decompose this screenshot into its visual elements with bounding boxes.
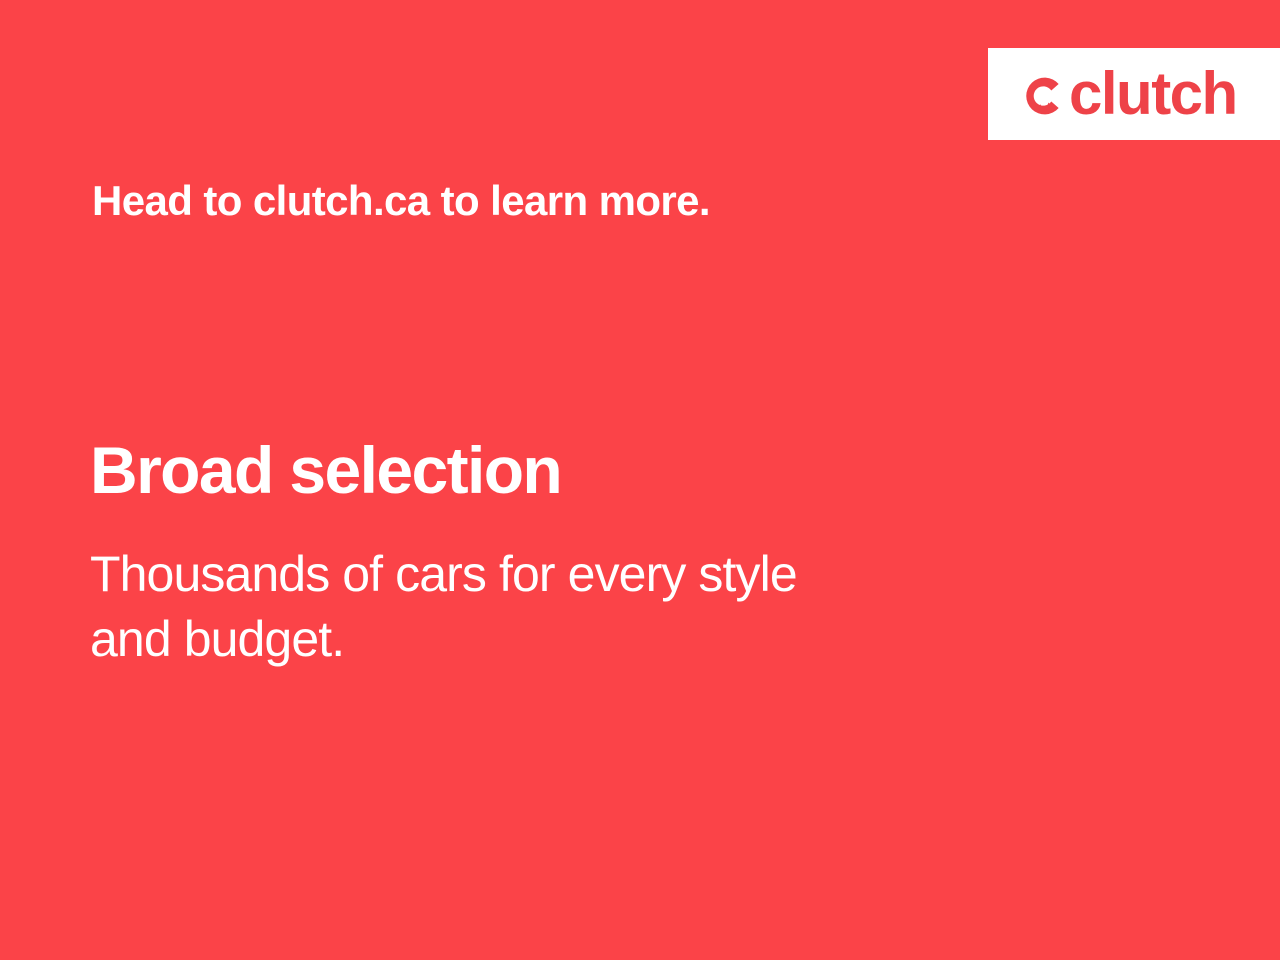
clutch-c-mark-icon	[1020, 73, 1066, 119]
headline-text: Broad selection	[90, 436, 561, 505]
subhead-text: Thousands of cars for every style and bu…	[90, 542, 1040, 672]
brand-logo-lockup: clutch	[1020, 64, 1237, 124]
brand-wordmark: clutch	[1069, 64, 1237, 124]
subhead-line: and budget.	[90, 607, 1040, 672]
subhead-line: Thousands of cars for every style	[90, 542, 1040, 607]
promo-slide: clutch Head to clutch.ca to learn more. …	[0, 0, 1280, 960]
eyebrow-text: Head to clutch.ca to learn more.	[92, 178, 710, 224]
brand-logo-plate: clutch	[988, 48, 1280, 140]
